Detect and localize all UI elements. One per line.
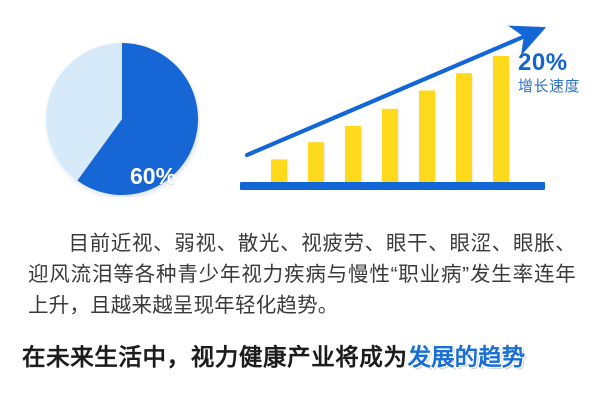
growth-caption-label: 增长速度 [518, 77, 600, 97]
bar-5 [419, 91, 435, 183]
bar-6 [456, 73, 472, 182]
charts-region: 60% 20% [0, 0, 600, 215]
bar-4 [382, 109, 398, 182]
pie-chart: 60% [44, 41, 200, 197]
headline-highlight-text: 发展的趋势 [408, 344, 526, 370]
growth-annotation: 20% 增长速度 [518, 50, 600, 97]
growth-percentage-label: 20% [518, 50, 600, 76]
bar-3 [345, 126, 361, 182]
paragraph-line-1: 目前近视、弱视、散光、视疲劳、眼干、眼涩、眼胀、 [68, 232, 576, 255]
pie-center-percentage-label: 60% [130, 163, 176, 190]
bar-2 [308, 142, 324, 182]
paragraph-line-2: 迎风流泪等各种青少年视力疾病与慢性“职业病”发生率连 [28, 263, 555, 286]
bar-7 [493, 56, 509, 182]
headline-plain-text: 在未来生活中，视力健康产业将成为 [22, 344, 408, 370]
bar-chart-svg [230, 20, 560, 205]
headline: 在未来生活中，视力健康产业将成为发展的趋势 [22, 340, 582, 374]
bar-1 [271, 159, 287, 182]
chart-baseline [240, 182, 545, 190]
bar-chart: 20% 增长速度 [230, 20, 560, 205]
bar-series [271, 56, 509, 182]
infographic-poster: 60% 20% [0, 0, 600, 400]
pie-chart-svg [44, 41, 200, 197]
body-paragraph: 目前近视、弱视、散光、视疲劳、眼干、眼涩、眼胀、迎风流泪等各种青少年视力疾病与慢… [28, 228, 576, 321]
